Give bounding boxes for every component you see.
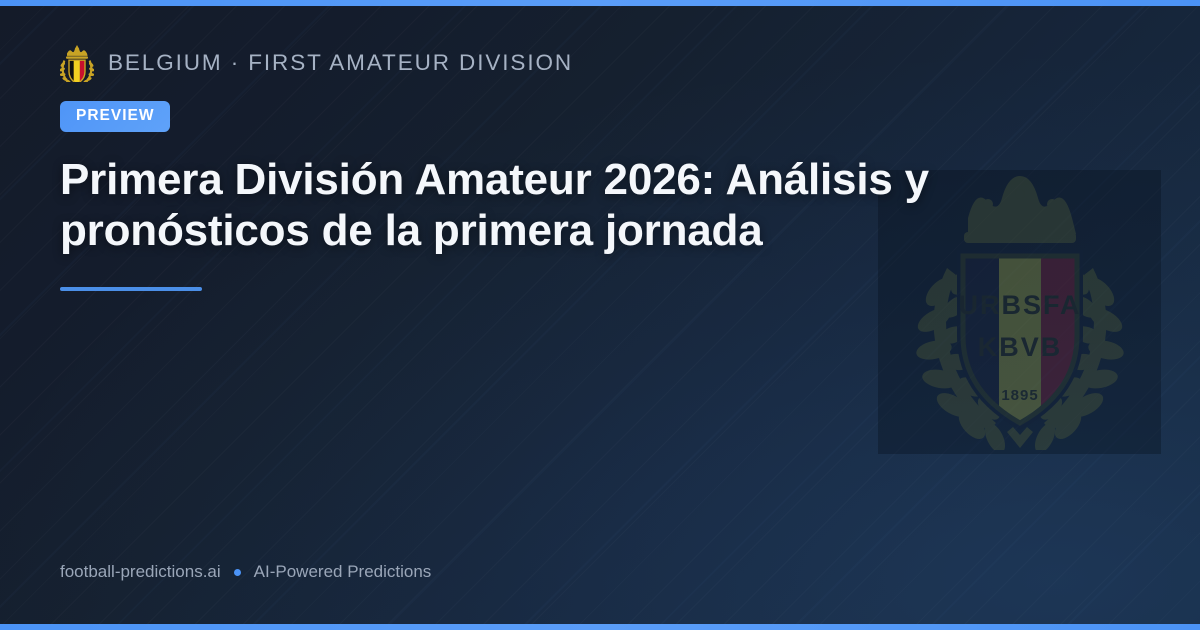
footer-site-name: football-predictions.ai xyxy=(60,562,221,582)
footer-tagline: AI-Powered Predictions xyxy=(254,562,432,582)
status-badge: PREVIEW xyxy=(60,101,170,132)
bottom-accent-bar xyxy=(0,624,1200,630)
dot-separator-icon xyxy=(234,569,241,576)
belgium-football-federation-crest-icon xyxy=(60,44,94,82)
breadcrumb-label: BELGIUM · FIRST AMATEUR DIVISION xyxy=(108,50,573,76)
content-area: BELGIUM · FIRST AMATEUR DIVISION PREVIEW… xyxy=(0,0,1200,630)
page-title: Primera División Amateur 2026: Análisis … xyxy=(60,154,990,256)
top-accent-bar xyxy=(0,0,1200,6)
footer: football-predictions.ai AI-Powered Predi… xyxy=(60,562,431,582)
social-preview-card: URBSFA KBVB 1895 xyxy=(0,0,1200,630)
breadcrumb: BELGIUM · FIRST AMATEUR DIVISION xyxy=(60,44,1140,82)
title-divider xyxy=(60,287,202,291)
